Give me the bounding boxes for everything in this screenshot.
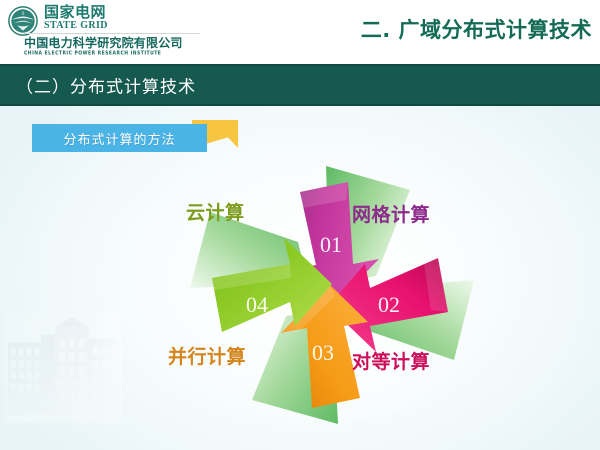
pinwheel-number-01: 01 bbox=[320, 232, 342, 257]
building-photo-watermark bbox=[4, 312, 122, 424]
deck-chapter-title: 二. 广域分布式计算技术 bbox=[361, 14, 592, 44]
slide-canvas: 国家电网 STATE GRID 中国电力科学研究院有限公司 CHINA ELEC… bbox=[0, 0, 600, 450]
institute-name-en: CHINA ELECTRIC POWER RESEARCH INSTITUTE bbox=[24, 50, 214, 58]
pinwheel-label-peer: 对等计算 bbox=[352, 347, 430, 374]
institute-block: 中国电力科学研究院有限公司 CHINA ELECTRIC POWER RESEA… bbox=[24, 33, 214, 57]
brand-name-en: STATE GRID bbox=[44, 20, 108, 31]
pinwheel-label-grid: 网格计算 bbox=[352, 200, 430, 227]
brand-name-cn: 国家电网 bbox=[44, 4, 108, 20]
institute-divider bbox=[24, 33, 200, 34]
slide-header: 国家电网 STATE GRID 中国电力科学研究院有限公司 CHINA ELEC… bbox=[0, 0, 600, 64]
state-grid-emblem-icon bbox=[8, 6, 38, 36]
pinwheel-number-03: 03 bbox=[312, 340, 334, 365]
ribbon-body: 分布式计算的方法 bbox=[32, 124, 207, 152]
pinwheel-label-parallel: 并行计算 bbox=[168, 342, 246, 369]
pinwheel-number-02: 02 bbox=[378, 292, 400, 317]
pinwheel-number-04: 04 bbox=[246, 292, 268, 317]
ribbon-label: 分布式计算的方法 bbox=[63, 129, 175, 148]
pinwheel-label-cloud: 云计算 bbox=[186, 198, 245, 225]
section-title-text: （二）分布式计算技术 bbox=[16, 73, 196, 98]
section-title-bar: （二）分布式计算技术 bbox=[0, 64, 600, 106]
institute-name-cn: 中国电力科学研究院有限公司 bbox=[24, 36, 214, 50]
state-grid-logo: 国家电网 STATE GRID bbox=[8, 4, 108, 36]
state-grid-wordmark: 国家电网 STATE GRID bbox=[44, 4, 108, 31]
